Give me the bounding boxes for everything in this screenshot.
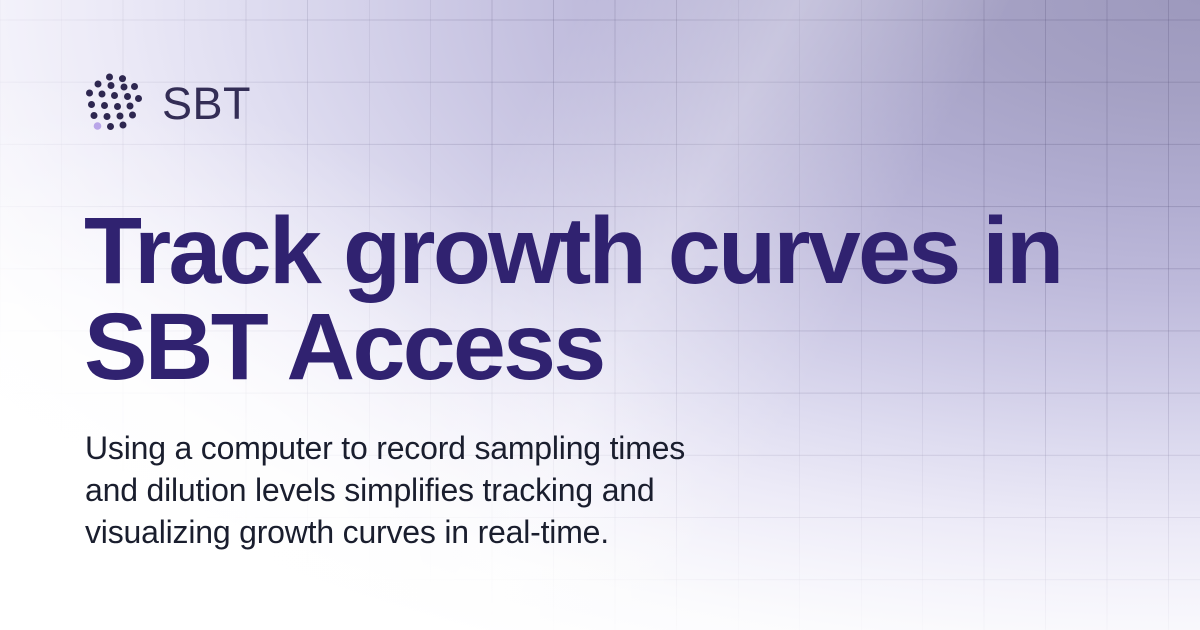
sbt-dot-cluster-icon [83, 72, 145, 134]
page-description: Using a computer to record sampling time… [85, 427, 885, 553]
social-share-card: SBT Track growth curves in SBT Access Us… [0, 0, 1200, 630]
page-title: Track growth curves in SBT Access [84, 203, 1154, 395]
brand-wordmark: SBT [162, 81, 251, 126]
brand-logo-lockup: SBT [83, 72, 251, 134]
card-content: SBT Track growth curves in SBT Access Us… [0, 0, 1200, 630]
